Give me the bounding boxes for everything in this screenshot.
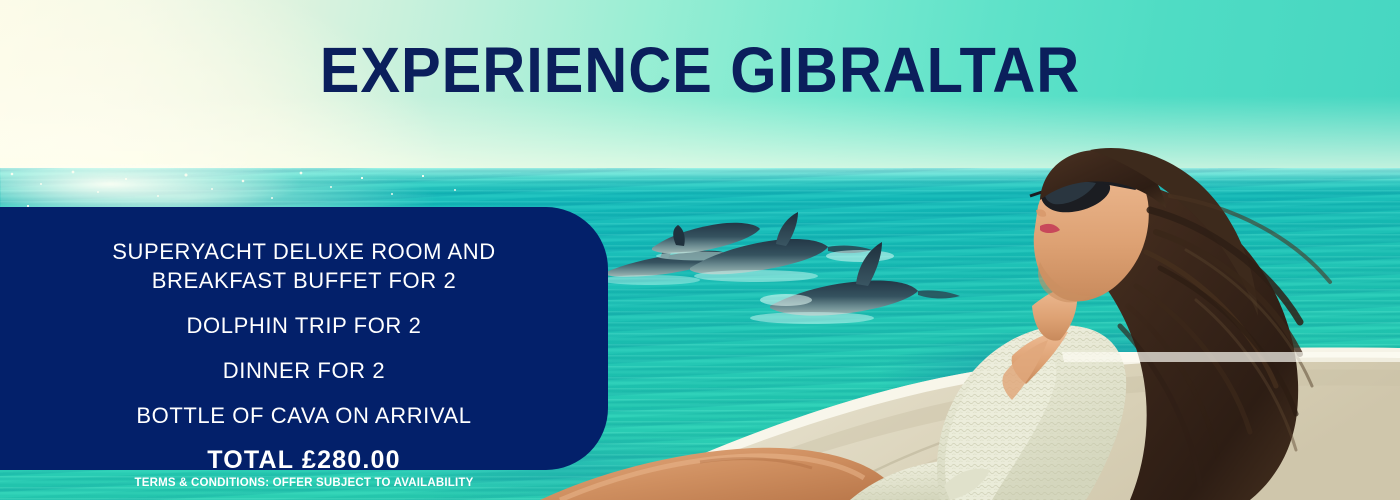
- offer-total: TOTAL £280.00: [46, 446, 562, 474]
- page-title: EXPERIENCE GIBRALTAR: [49, 38, 1351, 102]
- offer-line-3: DINNER FOR 2: [46, 356, 562, 385]
- experience-gibraltar-banner: EXPERIENCE GIBRALTAR SUPERYACHT DELUXE R…: [0, 0, 1400, 500]
- offer-line-1: SUPERYACHT DELUXE ROOM AND BREAKFAST BUF…: [46, 237, 562, 295]
- offer-panel: SUPERYACHT DELUXE ROOM AND BREAKFAST BUF…: [0, 207, 608, 470]
- offer-line-2: DOLPHIN TRIP FOR 2: [46, 311, 562, 340]
- offer-line-4: BOTTLE OF CAVA ON ARRIVAL: [46, 401, 562, 430]
- woman-legs: [540, 448, 884, 500]
- offer-terms: TERMS & CONDITIONS: OFFER SUBJECT TO AVA…: [46, 476, 562, 491]
